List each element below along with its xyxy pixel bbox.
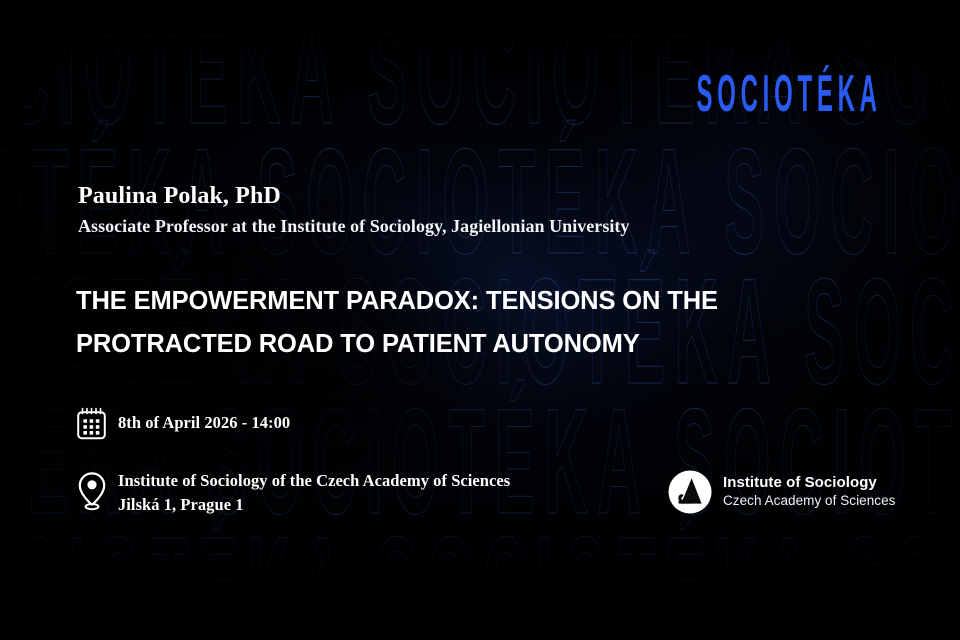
event-venue-text: Institute of Sociology of the Czech Acad… xyxy=(118,469,510,517)
czech-academy-a-mark-icon xyxy=(668,470,712,514)
institute-of-sociology-logo: Institute of Sociology Czech Academy of … xyxy=(668,470,895,514)
event-date-text: 8th of April 2026 - 14:00 xyxy=(118,405,290,435)
lecture-title-line-1: THE EMPOWERMENT PARADOX: TENSIONS ON THE xyxy=(76,280,776,323)
institute-logo-line-1: Institute of Sociology xyxy=(723,474,895,493)
calendar-icon xyxy=(76,405,118,441)
event-details: 8th of April 2026 - 14:00 Institute of S… xyxy=(76,405,716,545)
event-date-row: 8th of April 2026 - 14:00 xyxy=(76,405,716,441)
institute-logo-text: Institute of Sociology Czech Academy of … xyxy=(723,474,895,510)
venue-name: Institute of Sociology of the Czech Acad… xyxy=(118,469,510,493)
event-poster: SOCIOTÉKA SOCIOTÉKA SOCIOTÉKA SOCIOTÉKA … xyxy=(0,0,960,640)
lecture-title: THE EMPOWERMENT PARADOX: TENSIONS ON THE… xyxy=(76,280,776,366)
map-pin-icon xyxy=(76,469,118,511)
speaker-affiliation: Associate Professor at the Institute of … xyxy=(78,214,798,238)
event-venue-row: Institute of Sociology of the Czech Acad… xyxy=(76,469,716,517)
speaker-block: Paulina Polak, PhD Associate Professor a… xyxy=(78,182,798,238)
institute-logo-line-2: Czech Academy of Sciences xyxy=(723,493,895,510)
venue-address: Jilská 1, Prague 1 xyxy=(118,493,510,517)
lecture-title-line-2: PROTRACTED ROAD TO PATIENT AUTONOMY xyxy=(76,323,776,366)
poster-content: SOCIOTÉKA Paulina Polak, PhD Associate P… xyxy=(0,0,960,640)
speaker-name: Paulina Polak, PhD xyxy=(78,182,798,211)
sociotka-wordmark: SOCIOTÉKA xyxy=(697,68,882,120)
